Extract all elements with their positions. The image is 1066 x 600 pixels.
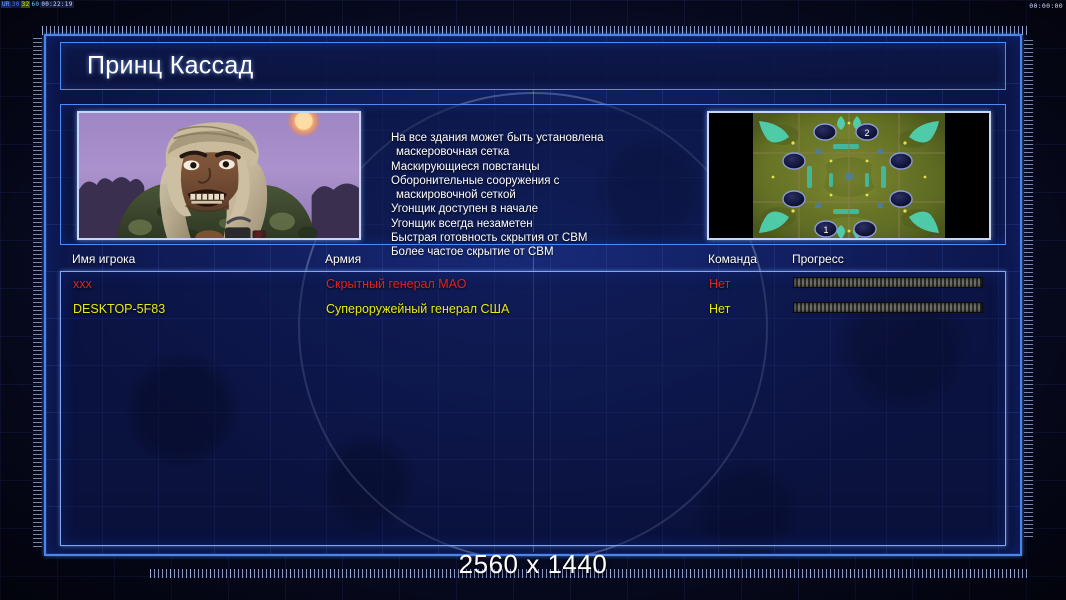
desc-line-4: маскировочной сеткой <box>391 188 701 202</box>
loading-screen-panel: Принц Кассад <box>44 34 1022 556</box>
desc-line-0: На все здания может быть установлена <box>391 131 701 145</box>
hud-seg-0: UR <box>1 1 11 8</box>
general-portrait <box>77 111 361 240</box>
hud-seg-2: 32 <box>21 1 31 8</box>
desc-line-6: Угонщик всегда незаметен <box>391 217 701 231</box>
page-title: Принц Кассад <box>87 52 253 81</box>
desc-line-7: Быстрая готовность скрытия от СВМ <box>391 231 701 245</box>
desc-line-5: Угонщик доступен в начале <box>391 202 701 216</box>
ruler-left <box>33 38 42 548</box>
ruler-right <box>1024 40 1033 538</box>
player-table-header: Имя игрока Армия Команда Прогресс <box>60 252 1006 271</box>
spawn-label-1: 1 <box>823 225 828 235</box>
desc-line-3: Оборонительные сооружения с <box>391 174 701 188</box>
row-army: Супероружейный генерал США <box>326 302 509 316</box>
hud-timer: 00:00:00 <box>1029 2 1063 10</box>
hud-seg-3: 60 <box>30 1 40 8</box>
header-army: Армия <box>325 252 361 266</box>
map-preview-inner: 1 2 <box>753 113 945 240</box>
spawn-label-2: 2 <box>864 128 869 138</box>
hud-seg-4: 00:22:19 <box>40 1 73 8</box>
map-preview: 1 2 <box>707 111 991 240</box>
general-description: На все здания может быть установлена мас… <box>391 131 701 260</box>
table-row: DESKTOP-5F83 Супероружейный генерал США … <box>61 297 1005 322</box>
table-row: xxx Скрытный генерал МАО Нет <box>61 272 1005 297</box>
portrait-image <box>79 113 359 240</box>
desc-line-2: Маскирующиеся повстанцы <box>391 160 701 174</box>
row-player-name: xxx <box>73 277 92 291</box>
row-army: Скрытный генерал МАО <box>326 277 466 291</box>
row-team: Нет <box>709 302 730 316</box>
header-team: Команда <box>708 252 757 266</box>
resolution-overlay: 2560 x 1440 <box>0 549 1066 580</box>
map-image: 1 2 <box>753 113 945 240</box>
title-bar: Принц Кассад <box>60 42 1006 90</box>
row-team: Нет <box>709 277 730 291</box>
row-player-name: DESKTOP-5F83 <box>73 302 165 316</box>
hud-top-left-readout: UR30326000:22:19 <box>1 1 74 9</box>
header-progress: Прогресс <box>792 252 844 266</box>
header-player-name: Имя игрока <box>72 252 135 266</box>
row-progress-bar <box>793 302 983 313</box>
row-progress-bar <box>793 277 983 288</box>
hud-seg-1: 30 <box>11 1 21 8</box>
player-list: xxx Скрытный генерал МАО Нет DESKTOP-5F8… <box>60 271 1006 546</box>
general-info-row: На все здания может быть установлена мас… <box>60 104 1006 245</box>
desc-line-1: маскеровочная сетка <box>391 145 701 159</box>
